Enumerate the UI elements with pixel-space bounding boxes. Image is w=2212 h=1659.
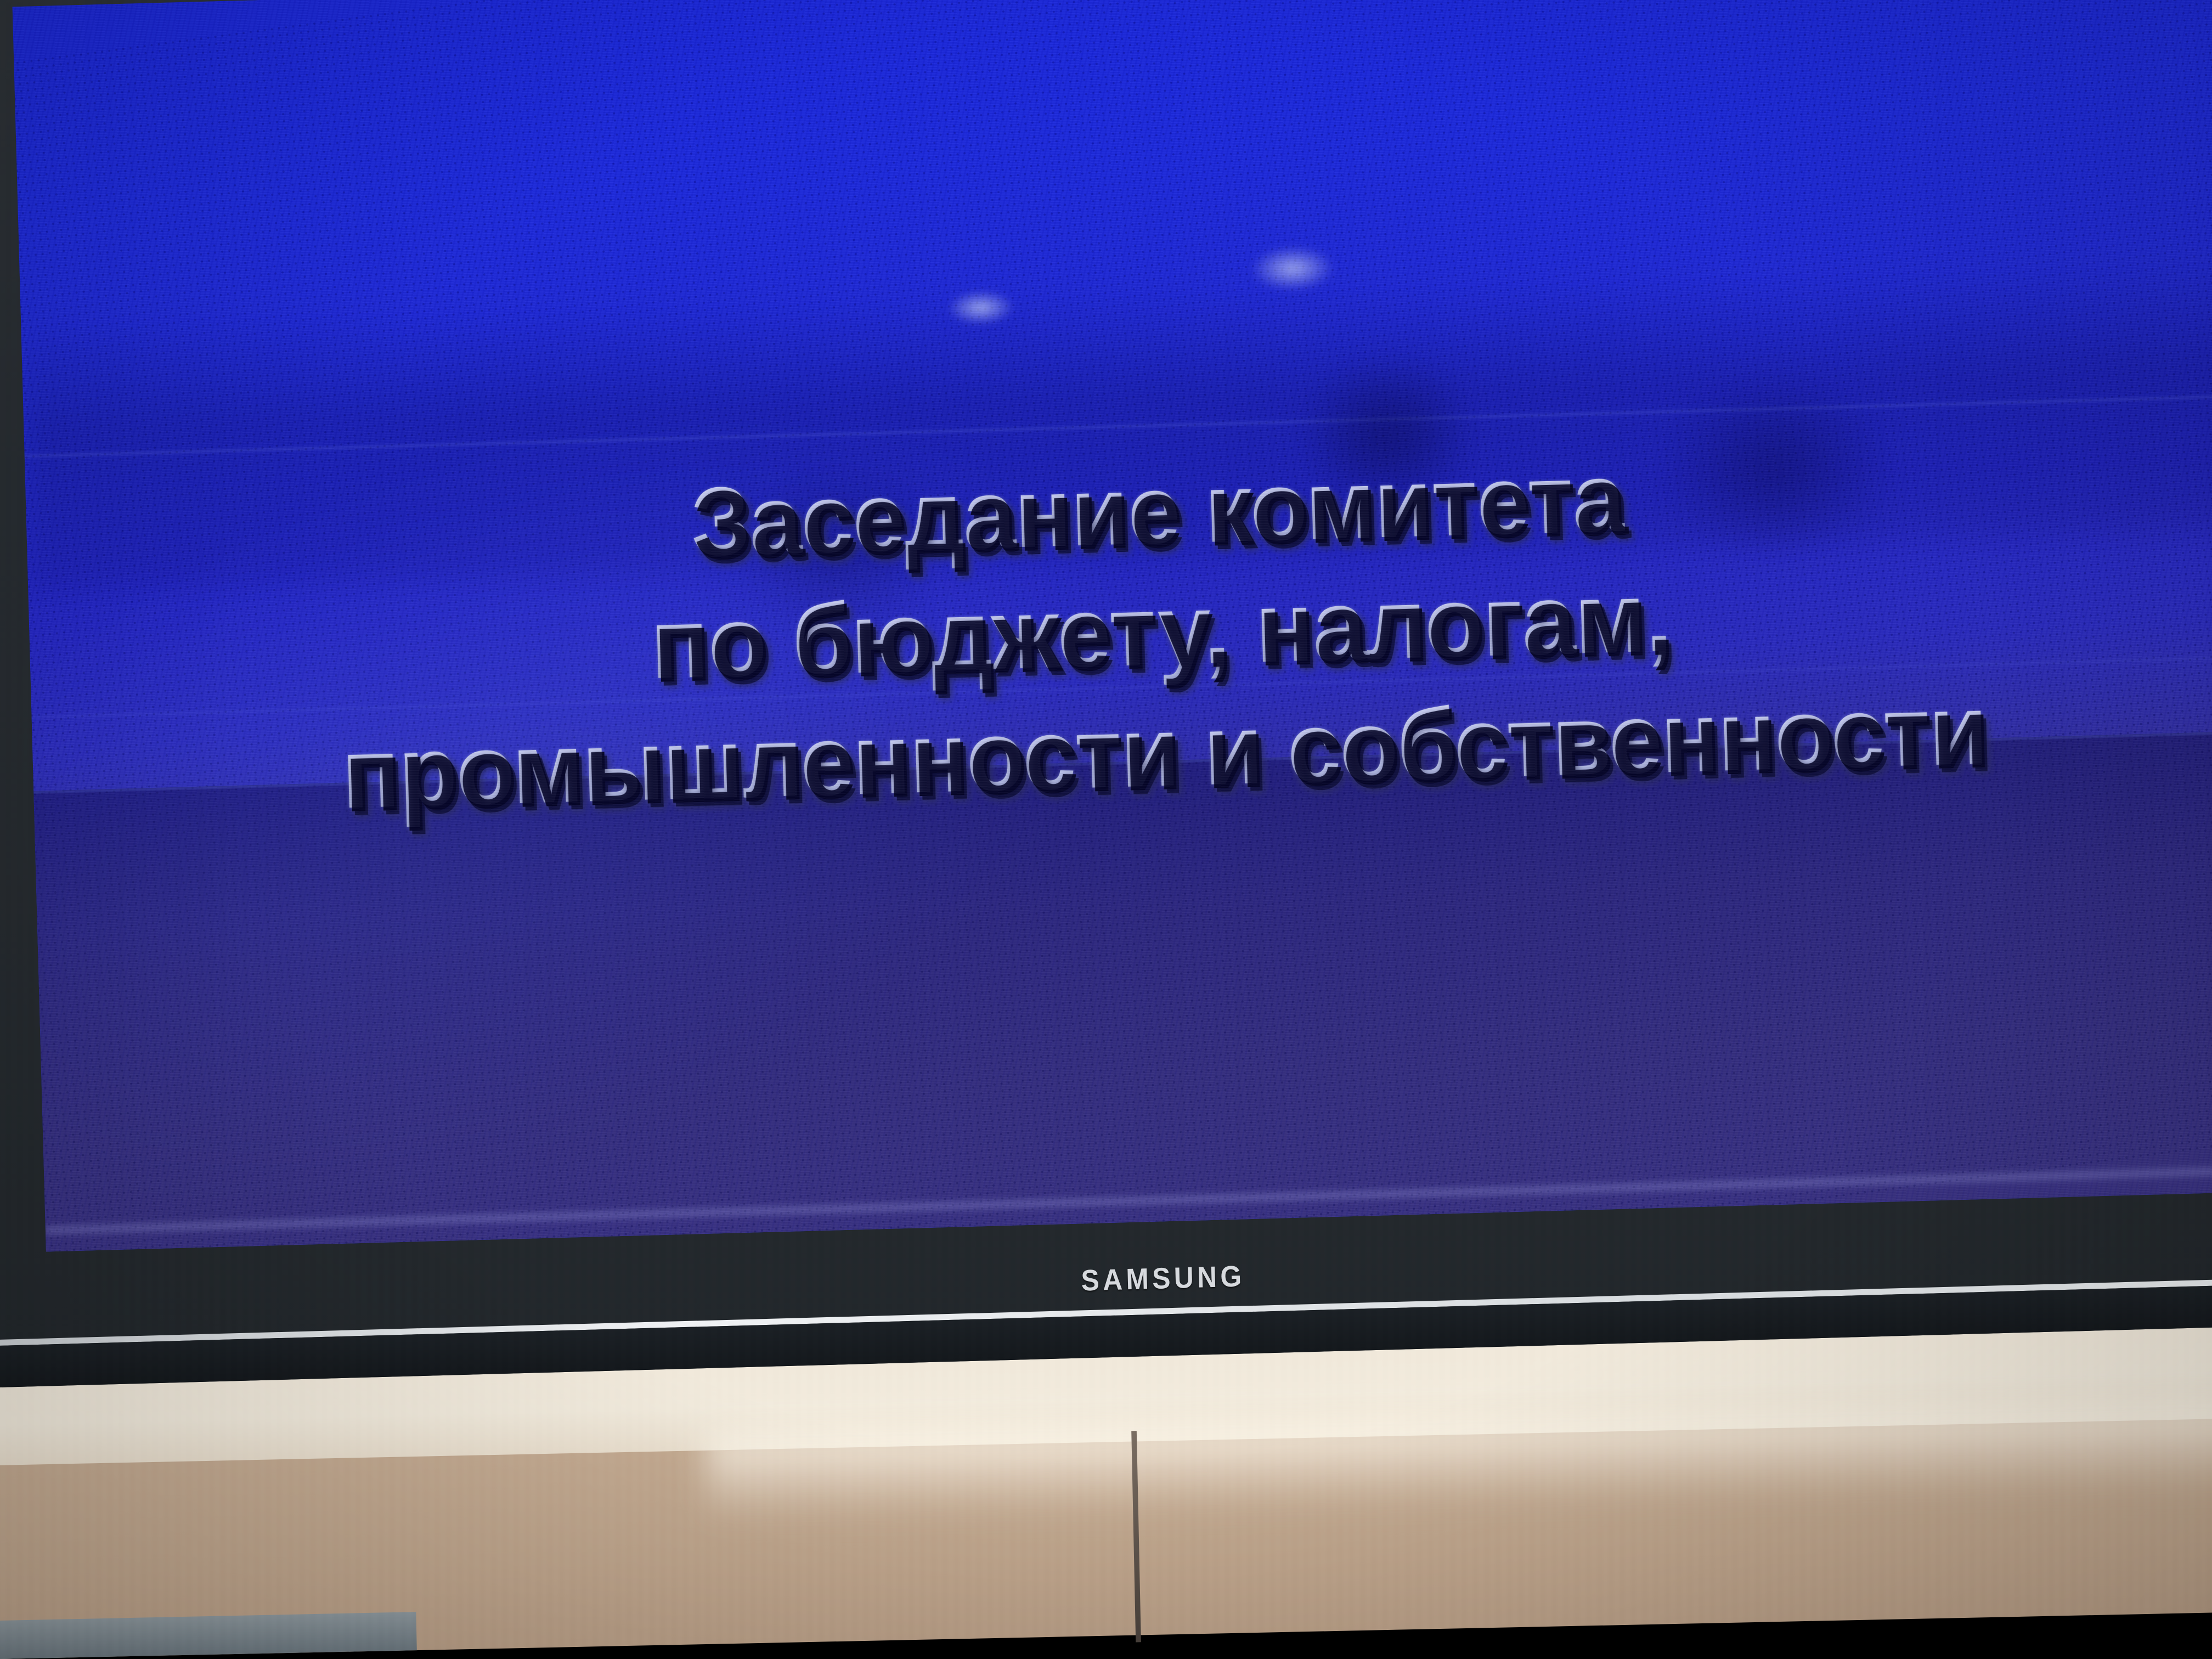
- tv-screen: Заседание комитета по бюджету, налогам, …: [13, 0, 2212, 1251]
- screen-scanlines: [13, 0, 2212, 1251]
- room-scene: Заседание комитета по бюджету, налогам, …: [0, 0, 2212, 1659]
- floor-strip: [0, 1612, 417, 1659]
- television: Заседание комитета по бюджету, налогам, …: [0, 0, 2212, 1387]
